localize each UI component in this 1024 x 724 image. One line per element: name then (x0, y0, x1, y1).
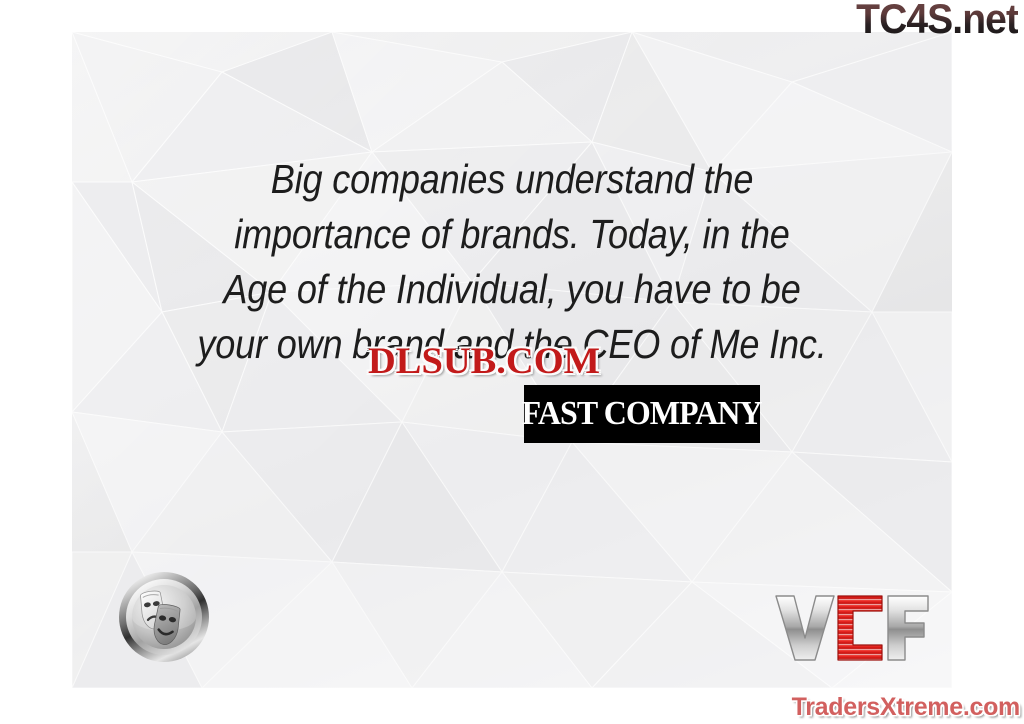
watermark-dlsub: DLSUB.COM (368, 340, 600, 383)
theatre-masks-icon (117, 570, 211, 664)
quote-line-3: Age of the Individual, you have to be (125, 262, 899, 317)
vcf-logo (772, 590, 932, 666)
attribution-logo: FAST COMPANY (524, 385, 760, 443)
watermark-tradersxtreme: TradersXtreme.com (792, 693, 1020, 722)
quote-line-2: importance of brands. Today, in the (125, 207, 899, 262)
watermark-tc4s: TC4S.net (856, 0, 1018, 42)
attribution-logo-text: FAST COMPANY (522, 395, 762, 433)
quote-text-block: Big companies understand the importance … (72, 152, 952, 372)
quote-line-1: Big companies understand the (125, 152, 899, 207)
